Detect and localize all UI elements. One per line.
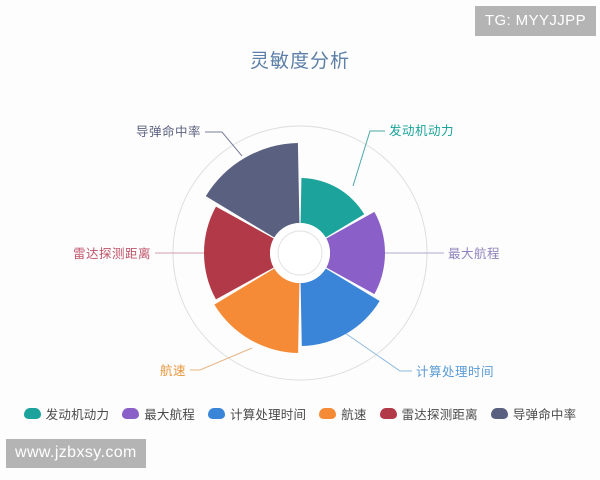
slice-label-radar: 雷达探测距离: [73, 246, 151, 261]
watermark-bottom-left: www.jzbxsy.com: [6, 439, 146, 468]
legend-marker-icon: [122, 408, 139, 419]
leader-line-hit-rate: [205, 132, 242, 156]
legend-item[interactable]: 计算处理时间: [208, 404, 306, 423]
slice-label-hit-rate: 导弹命中率: [136, 124, 201, 139]
legend-item[interactable]: 最大航程: [122, 404, 195, 423]
legend-marker-icon: [380, 408, 397, 419]
leader-line-engine: [353, 131, 385, 186]
slice-label-speed: 航速: [160, 363, 186, 378]
legend-item[interactable]: 发动机动力: [24, 404, 110, 423]
legend-item-label: 雷达探测距离: [402, 404, 478, 423]
watermark-top-right: TG: MYYJJPP: [475, 6, 596, 36]
legend-marker-icon: [491, 408, 508, 419]
chart-legend: 发动机动力最大航程计算处理时间航速雷达探测距离导弹命中率: [0, 404, 600, 423]
legend-item-label: 航速: [341, 404, 366, 423]
legend-item[interactable]: 雷达探测距离: [380, 404, 478, 423]
chart-canvas: 灵敏度分析 导弹命中率 发动机动力 最大航程 计算处理时间 航速 雷达探测距离 …: [0, 0, 600, 480]
slice-label-range: 最大航程: [448, 246, 500, 261]
legend-item-label: 导弹命中率: [513, 404, 577, 423]
legend-item-label: 最大航程: [144, 404, 195, 423]
slice-label-engine: 发动机动力: [389, 123, 454, 138]
slice-label-compute: 计算处理时间: [416, 364, 494, 379]
legend-item-label: 计算处理时间: [230, 404, 306, 423]
legend-item-label: 发动机动力: [46, 404, 110, 423]
legend-marker-icon: [24, 408, 41, 419]
legend-marker-icon: [208, 408, 225, 419]
donut-hole-disc: [270, 223, 330, 283]
leader-line-compute: [345, 333, 412, 371]
legend-marker-icon: [319, 408, 336, 419]
legend-item[interactable]: 导弹命中率: [491, 404, 577, 423]
legend-item[interactable]: 航速: [319, 404, 366, 423]
